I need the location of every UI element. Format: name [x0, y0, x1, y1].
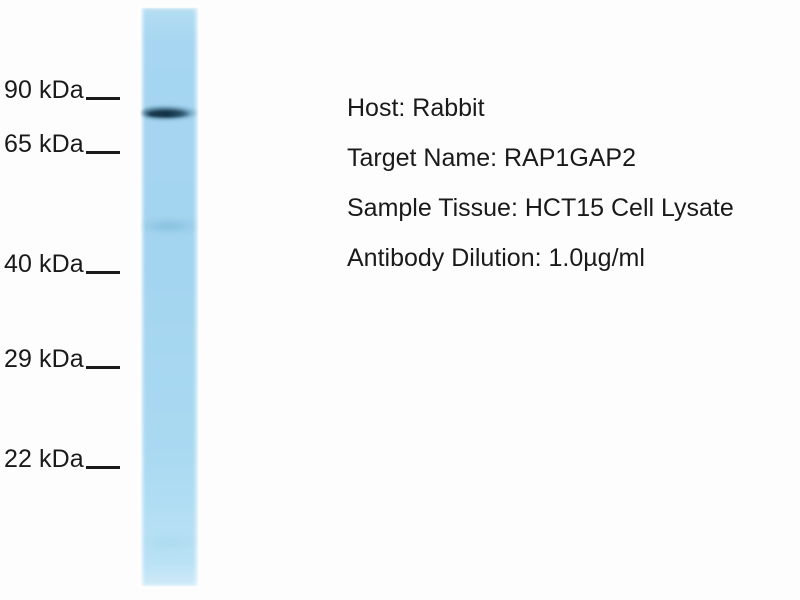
band-smudge	[141, 528, 198, 558]
info-line-host: Host: Rabbit	[347, 96, 800, 121]
blot-lane	[141, 8, 198, 586]
assay-info-block: Host: Rabbit Target Name: RAP1GAP2 Sampl…	[347, 96, 800, 296]
marker-tick-icon	[86, 271, 120, 274]
marker-label: 40 kDa	[4, 252, 84, 277]
marker-tick-icon	[86, 97, 120, 100]
marker-label: 29 kDa	[4, 347, 84, 372]
info-line-sample-tissue: Sample Tissue: HCT15 Cell Lysate	[347, 196, 800, 221]
marker-tick-icon	[86, 466, 120, 469]
marker-65-kda: 65 kDa	[4, 132, 120, 157]
band-faint	[141, 214, 198, 238]
lane-background	[141, 8, 198, 586]
marker-tick-icon	[86, 151, 120, 154]
band-primary-core	[145, 111, 191, 117]
marker-label: 90 kDa	[4, 78, 84, 103]
marker-90-kda: 90 kDa	[4, 78, 120, 103]
marker-29-kda: 29 kDa	[4, 347, 120, 372]
marker-label: 22 kDa	[4, 447, 84, 472]
western-blot-figure: 90 kDa 65 kDa 40 kDa 29 kDa 22 kDa Ho	[0, 0, 800, 600]
marker-40-kda: 40 kDa	[4, 252, 120, 277]
marker-label: 65 kDa	[4, 132, 84, 157]
marker-tick-icon	[86, 366, 120, 369]
info-line-target-name: Target Name: RAP1GAP2	[347, 146, 800, 171]
marker-22-kda: 22 kDa	[4, 447, 120, 472]
info-line-antibody-dilution: Antibody Dilution: 1.0µg/ml	[347, 246, 800, 271]
